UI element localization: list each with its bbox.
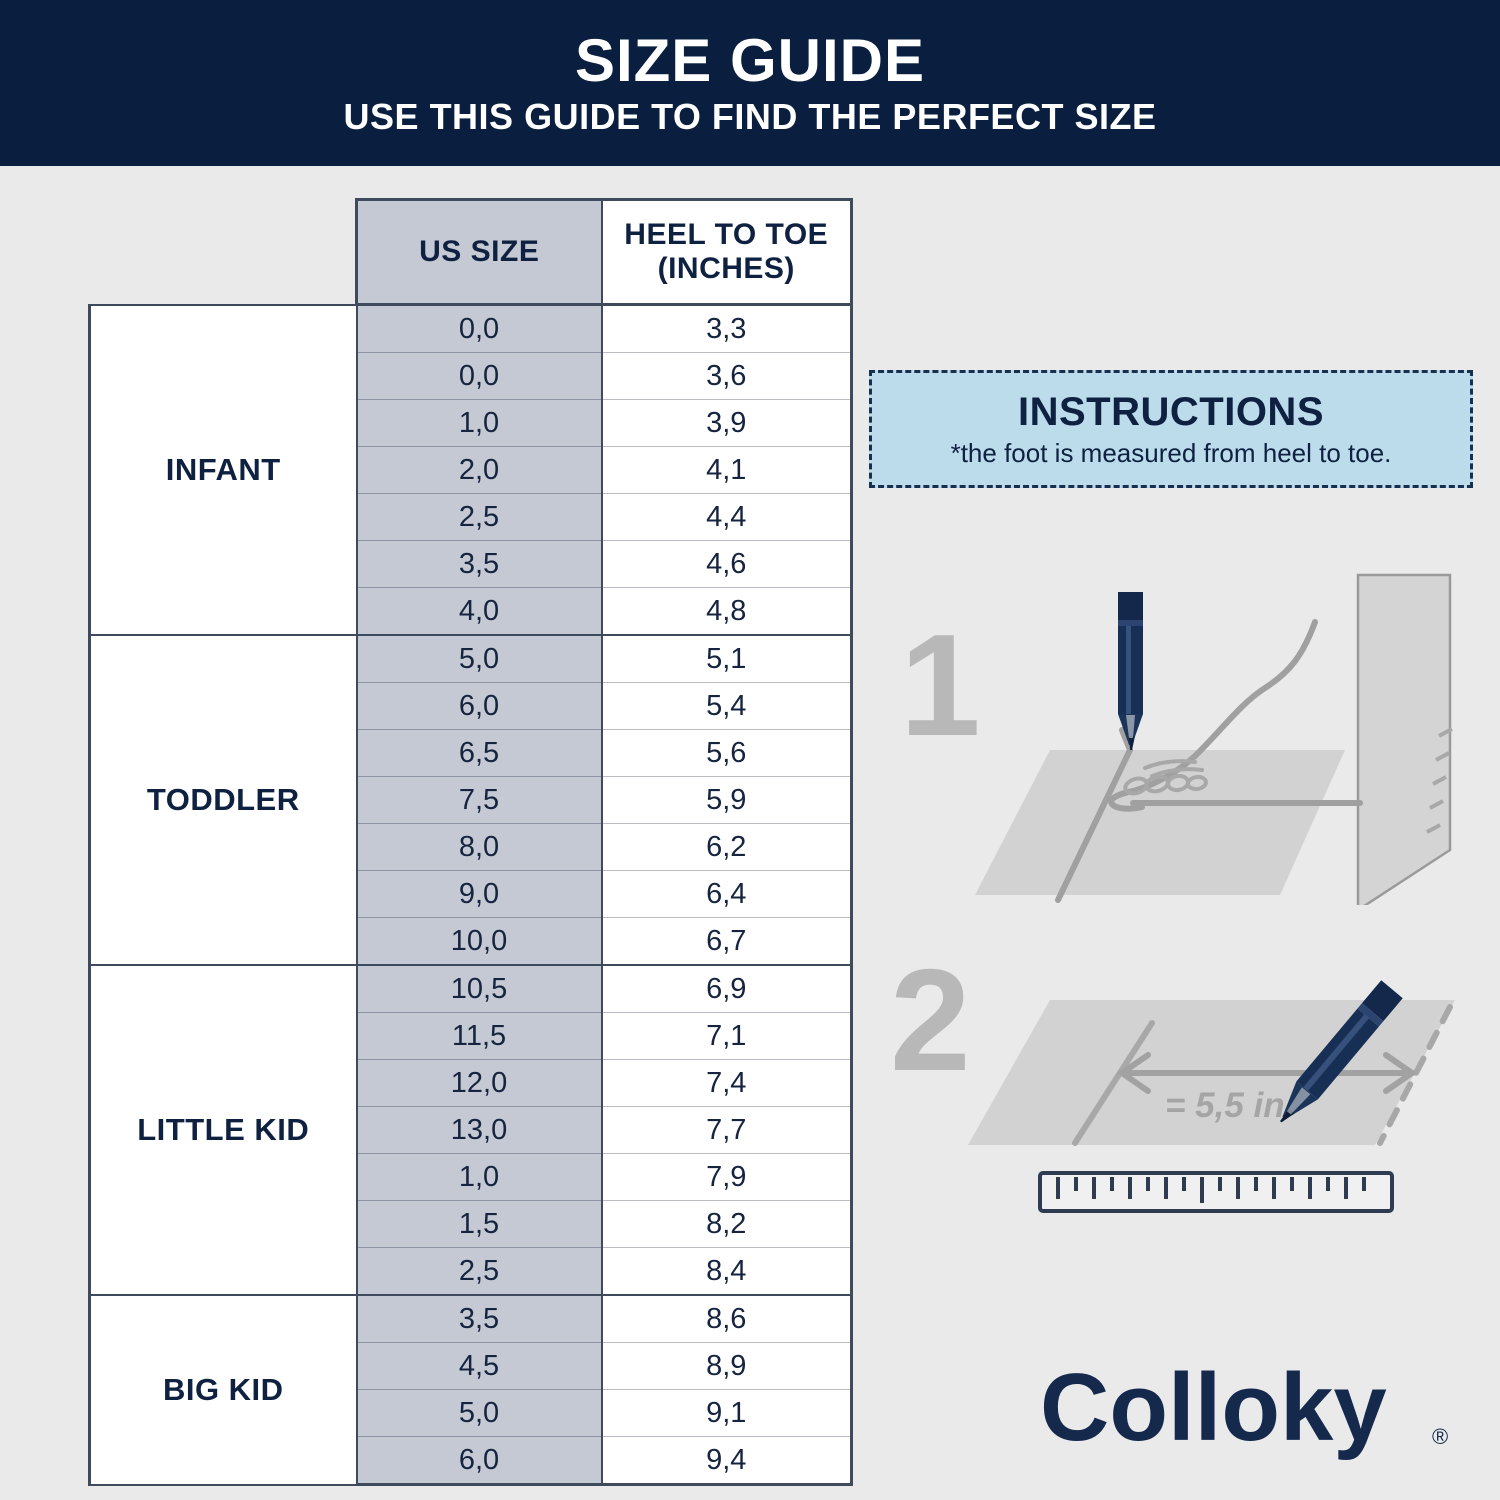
measurement-label: = 5,5 in (1165, 1086, 1285, 1125)
step-1-number-icon: 1 (900, 604, 981, 766)
brand-logo: Colloky ® (1040, 1348, 1470, 1472)
table-row: LITTLE KID10,56,9 (90, 965, 852, 1013)
us-size-cell: 5,0 (357, 1390, 602, 1437)
us-size-cell: 1,0 (357, 1154, 602, 1201)
heel-to-toe-cell: 3,3 (602, 305, 852, 353)
heel-to-toe-cell: 9,1 (602, 1390, 852, 1437)
heel-to-toe-cell: 7,4 (602, 1060, 852, 1107)
category-label-toddler: TODDLER (90, 635, 357, 965)
column-header-heel-to-toe: HEEL TO TOE (INCHES) (602, 200, 852, 305)
heel-to-toe-cell: 6,2 (602, 824, 852, 871)
us-size-cell: 10,0 (357, 918, 602, 966)
logo-trademark-icon: ® (1432, 1424, 1448, 1449)
heel-to-toe-cell: 5,4 (602, 683, 852, 730)
heel-to-toe-cell: 8,4 (602, 1248, 852, 1296)
heel-to-toe-cell: 5,6 (602, 730, 852, 777)
page-subtitle: USE THIS GUIDE TO FIND THE PERFECT SIZE (344, 99, 1157, 135)
page-header: SIZE GUIDE USE THIS GUIDE TO FIND THE PE… (0, 0, 1500, 166)
us-size-cell: 8,0 (357, 824, 602, 871)
table-row: INFANT0,03,3 (90, 305, 852, 353)
ruler-icon (1040, 1173, 1392, 1211)
heel-to-toe-cell: 6,4 (602, 871, 852, 918)
category-label-little-kid: LITTLE KID (90, 965, 357, 1295)
us-size-cell: 3,5 (357, 541, 602, 588)
heel-to-toe-cell: 8,2 (602, 1201, 852, 1248)
heel-to-toe-cell: 7,9 (602, 1154, 852, 1201)
column-header-us-size: US SIZE (357, 200, 602, 305)
heel-to-toe-cell: 4,6 (602, 541, 852, 588)
us-size-cell: 1,5 (357, 1201, 602, 1248)
us-size-cell: 4,0 (357, 588, 602, 636)
size-table: US SIZE HEEL TO TOE (INCHES) INFANT0,03,… (88, 198, 853, 1486)
heel-to-toe-cell: 5,9 (602, 777, 852, 824)
step-2-number-icon: 2 (890, 945, 971, 1101)
us-size-cell: 2,5 (357, 494, 602, 541)
us-size-cell: 7,5 (357, 777, 602, 824)
heel-to-toe-cell: 4,4 (602, 494, 852, 541)
heel-to-toe-cell: 3,9 (602, 400, 852, 447)
heel-header-line2: (INCHES) (658, 252, 795, 285)
us-size-cell: 2,0 (357, 447, 602, 494)
us-size-cell: 1,0 (357, 400, 602, 447)
instructions-box: INSTRUCTIONS *the foot is measured from … (869, 370, 1473, 488)
wall-board-icon (1358, 575, 1450, 905)
us-size-cell: 12,0 (357, 1060, 602, 1107)
us-size-cell: 10,5 (357, 965, 602, 1013)
us-size-cell: 6,5 (357, 730, 602, 777)
heel-to-toe-cell: 8,9 (602, 1343, 852, 1390)
heel-to-toe-cell: 7,1 (602, 1013, 852, 1060)
us-size-cell: 11,5 (357, 1013, 602, 1060)
us-size-cell: 2,5 (357, 1248, 602, 1296)
us-size-cell: 3,5 (357, 1295, 602, 1343)
heel-to-toe-cell: 4,8 (602, 588, 852, 636)
table-header-row: US SIZE HEEL TO TOE (INCHES) (90, 200, 852, 305)
heel-to-toe-cell: 8,6 (602, 1295, 852, 1343)
us-size-cell: 6,0 (357, 1437, 602, 1485)
us-size-cell: 6,0 (357, 683, 602, 730)
heel-header-line1: HEEL TO TOE (624, 218, 828, 251)
us-size-cell: 0,0 (357, 305, 602, 353)
category-label-big-kid: BIG KID (90, 1295, 357, 1485)
size-chart-table: US SIZE HEEL TO TOE (INCHES) INFANT0,03,… (88, 198, 850, 1462)
instructions-title: INSTRUCTIONS (1018, 392, 1324, 432)
us-size-cell: 9,0 (357, 871, 602, 918)
logo-wordmark: Colloky (1040, 1354, 1387, 1461)
heel-to-toe-cell: 6,9 (602, 965, 852, 1013)
category-label-infant: INFANT (90, 305, 357, 636)
us-size-cell: 4,5 (357, 1343, 602, 1390)
heel-to-toe-cell: 5,1 (602, 635, 852, 683)
heel-to-toe-cell: 4,1 (602, 447, 852, 494)
us-size-cell: 13,0 (357, 1107, 602, 1154)
pencil-icon (1118, 592, 1143, 750)
heel-to-toe-cell: 3,6 (602, 353, 852, 400)
table-row: BIG KID3,58,6 (90, 1295, 852, 1343)
table-row: TODDLER5,05,1 (90, 635, 852, 683)
us-size-cell: 5,0 (357, 635, 602, 683)
us-size-cell: 0,0 (357, 353, 602, 400)
step-2-illustration: 2 = 5,5 in (890, 945, 1470, 1235)
heel-to-toe-cell: 7,7 (602, 1107, 852, 1154)
heel-to-toe-cell: 6,7 (602, 918, 852, 966)
page-title: SIZE GUIDE (575, 31, 925, 91)
step-1-illustration: 1 (890, 560, 1470, 905)
header-spacer-cell (90, 200, 357, 305)
instructions-note: *the foot is measured from heel to toe. (951, 440, 1392, 466)
heel-to-toe-cell: 9,4 (602, 1437, 852, 1485)
